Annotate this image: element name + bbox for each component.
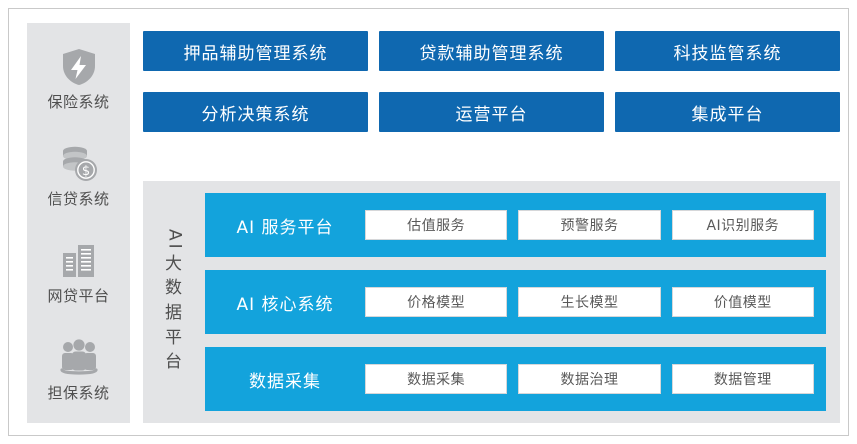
application-systems-group: 押品辅助管理系统 贷款辅助管理系统 科技监管系统 分析决策系统 运营平台 集成平… [143, 31, 840, 153]
chip-value-model[interactable]: 价值模型 [672, 287, 814, 317]
sidebar-item-online-lending[interactable]: 网贷平台 [27, 239, 130, 305]
diagram-frame: 保险系统 $ 信贷系统 [8, 8, 849, 436]
chip-data-governance[interactable]: 数据治理 [518, 364, 660, 394]
platform-row-chips: 价格模型 生长模型 价值模型 [365, 287, 814, 317]
ai-bigdata-platform-panel: AI 大 数 据 平 台 AI 服务平台 估值服务 预警服务 AI识别服务 AI… [143, 181, 840, 423]
chip-valuation-service[interactable]: 估值服务 [365, 210, 507, 240]
platform-label-char-5: 台 [165, 350, 183, 375]
platform-label-char-1: 大 [165, 252, 183, 277]
sidebar: 保险系统 $ 信贷系统 [27, 23, 130, 423]
chip-growth-model[interactable]: 生长模型 [518, 287, 660, 317]
system-bar-analysis-decision[interactable]: 分析决策系统 [143, 92, 368, 132]
sidebar-item-credit[interactable]: $ 信贷系统 [27, 142, 130, 208]
shield-bolt-icon [57, 45, 101, 89]
platform-row-title: AI 服务平台 [205, 213, 365, 238]
platform-vertical-label: AI 大 数 据 平 台 [143, 193, 205, 411]
platform-label-latin: AI [166, 229, 183, 252]
sidebar-item-guarantee[interactable]: 担保系统 [27, 336, 130, 402]
chip-data-collection[interactable]: 数据采集 [365, 364, 507, 394]
platform-label-char-4: 平 [165, 326, 183, 351]
sidebar-item-label: 信贷系统 [47, 190, 109, 208]
buildings-icon [57, 239, 101, 283]
platform-row-ai-core: AI 核心系统 价格模型 生长模型 价值模型 [205, 270, 826, 334]
platform-label-char-3: 据 [165, 301, 183, 326]
platform-row-title: AI 核心系统 [205, 290, 365, 315]
system-bar-operations-platform[interactable]: 运营平台 [379, 92, 604, 132]
platform-row-title: 数据采集 [205, 367, 365, 392]
platform-label-char-2: 数 [165, 276, 183, 301]
platform-row-ai-service: AI 服务平台 估值服务 预警服务 AI识别服务 [205, 193, 826, 257]
platform-row-chips: 估值服务 预警服务 AI识别服务 [365, 210, 814, 240]
sidebar-item-label: 网贷平台 [47, 287, 109, 305]
chip-ai-recognition-service[interactable]: AI识别服务 [672, 210, 814, 240]
svg-text:$: $ [81, 164, 89, 179]
application-systems-row-2: 分析决策系统 运营平台 集成平台 [143, 92, 840, 132]
chip-alert-service[interactable]: 预警服务 [518, 210, 660, 240]
application-systems-row-1: 押品辅助管理系统 贷款辅助管理系统 科技监管系统 [143, 31, 840, 71]
sidebar-item-label: 担保系统 [47, 384, 109, 402]
system-bar-loan-management[interactable]: 贷款辅助管理系统 [379, 31, 604, 71]
people-group-icon [57, 336, 101, 380]
system-bar-tech-supervision[interactable]: 科技监管系统 [615, 31, 840, 71]
platform-rows: AI 服务平台 估值服务 预警服务 AI识别服务 AI 核心系统 价格模型 生长… [205, 193, 826, 411]
platform-row-data-collection: 数据采集 数据采集 数据治理 数据管理 [205, 347, 826, 411]
system-bar-collateral-management[interactable]: 押品辅助管理系统 [143, 31, 368, 71]
chip-data-management[interactable]: 数据管理 [672, 364, 814, 394]
platform-row-chips: 数据采集 数据治理 数据管理 [365, 364, 814, 394]
chip-price-model[interactable]: 价格模型 [365, 287, 507, 317]
sidebar-item-insurance[interactable]: 保险系统 [27, 45, 130, 111]
sidebar-item-label: 保险系统 [47, 93, 109, 111]
system-bar-integration-platform[interactable]: 集成平台 [615, 92, 840, 132]
coins-dollar-icon: $ [57, 142, 101, 186]
